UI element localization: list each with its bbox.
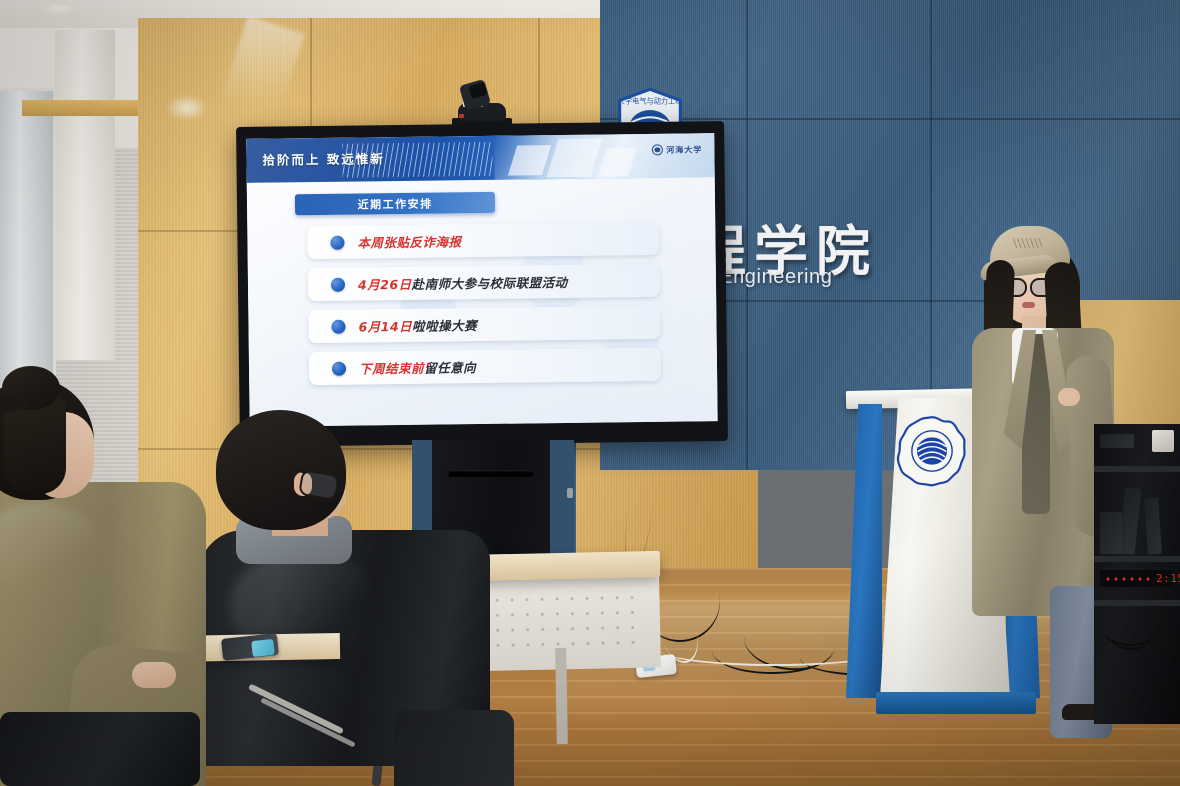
blue-dot-icon [331, 319, 345, 333]
window [0, 88, 56, 388]
attendee-hand [132, 662, 176, 688]
attendee-leg [394, 710, 514, 786]
stand-side-panel [548, 440, 574, 560]
wall-display[interactable]: 拾阶而上 致远惟新 河海大学 近期工作安排 [236, 121, 728, 447]
svg-text:大学电气与动力工程: 大学电气与动力工程 [618, 97, 683, 106]
display-screen[interactable]: 拾阶而上 致远惟新 河海大学 近期工作安排 [246, 133, 717, 427]
list-item-text: 6月14日啦啦操大赛 [358, 315, 477, 335]
list-item: 4月26日赴南师大参与校际联盟活动 [308, 264, 660, 301]
list-item-body: 赴南师大参与校际联盟活动 [412, 275, 568, 292]
wall-socket [1152, 430, 1174, 452]
slide-header-photo [494, 133, 715, 180]
slide-motto: 拾阶而上 致远惟新 [262, 148, 385, 168]
presenter-lips [1022, 302, 1035, 308]
blue-dot-icon [330, 235, 344, 249]
cap-embroidery [1012, 238, 1042, 248]
list-item-text: 本周张贴反诈海报 [357, 231, 461, 251]
list-item-date: 6月14日 [358, 319, 412, 335]
blue-dot-icon [332, 361, 346, 375]
rack-led-readout: 2:15 [1156, 572, 1180, 585]
university-emblem-podium [896, 415, 968, 487]
rack-shelf [1094, 466, 1180, 472]
wall-pillar [55, 30, 115, 360]
list-item-date: 4月26日 [358, 277, 412, 293]
list-item-date: 本周 [357, 235, 383, 250]
rack-device [1100, 434, 1134, 448]
list-item-body: 留任意向 [424, 360, 476, 376]
building-shape [547, 139, 603, 178]
cable [1108, 614, 1154, 650]
list-item-body: 张贴反诈海报 [383, 234, 461, 250]
list-item: 6月14日啦啦操大赛 [308, 306, 660, 343]
list-item: 本周张贴反诈海报 [307, 222, 659, 259]
phone-case [251, 639, 275, 657]
building-shape [508, 145, 551, 176]
slide-header: 拾阶而上 致远惟新 河海大学 [246, 133, 715, 183]
wall-trim-strip [22, 100, 150, 116]
rack-device [1100, 512, 1122, 554]
list-item-text: 下周结束前留任意向 [359, 357, 476, 377]
chair[interactable] [0, 712, 200, 786]
desk-leg [555, 648, 568, 744]
emblem-icon [651, 144, 663, 156]
camera-led [459, 114, 464, 118]
rack-led-indicators [1104, 575, 1152, 582]
slide-logo-text: 河海大学 [666, 144, 702, 155]
presentation-slide: 拾阶而上 致远惟新 河海大学 近期工作安排 [246, 133, 717, 427]
presenter-hand [1058, 388, 1080, 406]
blue-dot-icon [331, 277, 345, 291]
stand-knob[interactable] [567, 488, 573, 498]
building-shape [598, 148, 637, 176]
list-item-body: 啦啦操大赛 [412, 318, 477, 334]
list-item: 下周结束前留任意向 [309, 348, 661, 385]
attendee-hair [216, 410, 346, 530]
rack-shelf [1094, 556, 1180, 562]
slide-bullet-list: 本周张贴反诈海报 4月26日赴南师大参与校际联盟活动 6月14日啦啦操大赛 下周… [307, 222, 661, 394]
slide-section-title-bar: 近期工作安排 [295, 192, 495, 215]
list-item-date: 下周结束前 [359, 361, 424, 377]
wall-glare [165, 95, 209, 121]
slide-section-title: 近期工作安排 [357, 195, 432, 212]
classroom-presentation-scene: 大学电气与动力工程 程学院 er Engineering 拾阶而上 致 [0, 0, 1180, 786]
list-item-text: 4月26日赴南师大参与校际联盟活动 [358, 272, 568, 294]
slide-university-logo: 河海大学 [651, 143, 702, 156]
ceiling-light [40, 2, 78, 14]
